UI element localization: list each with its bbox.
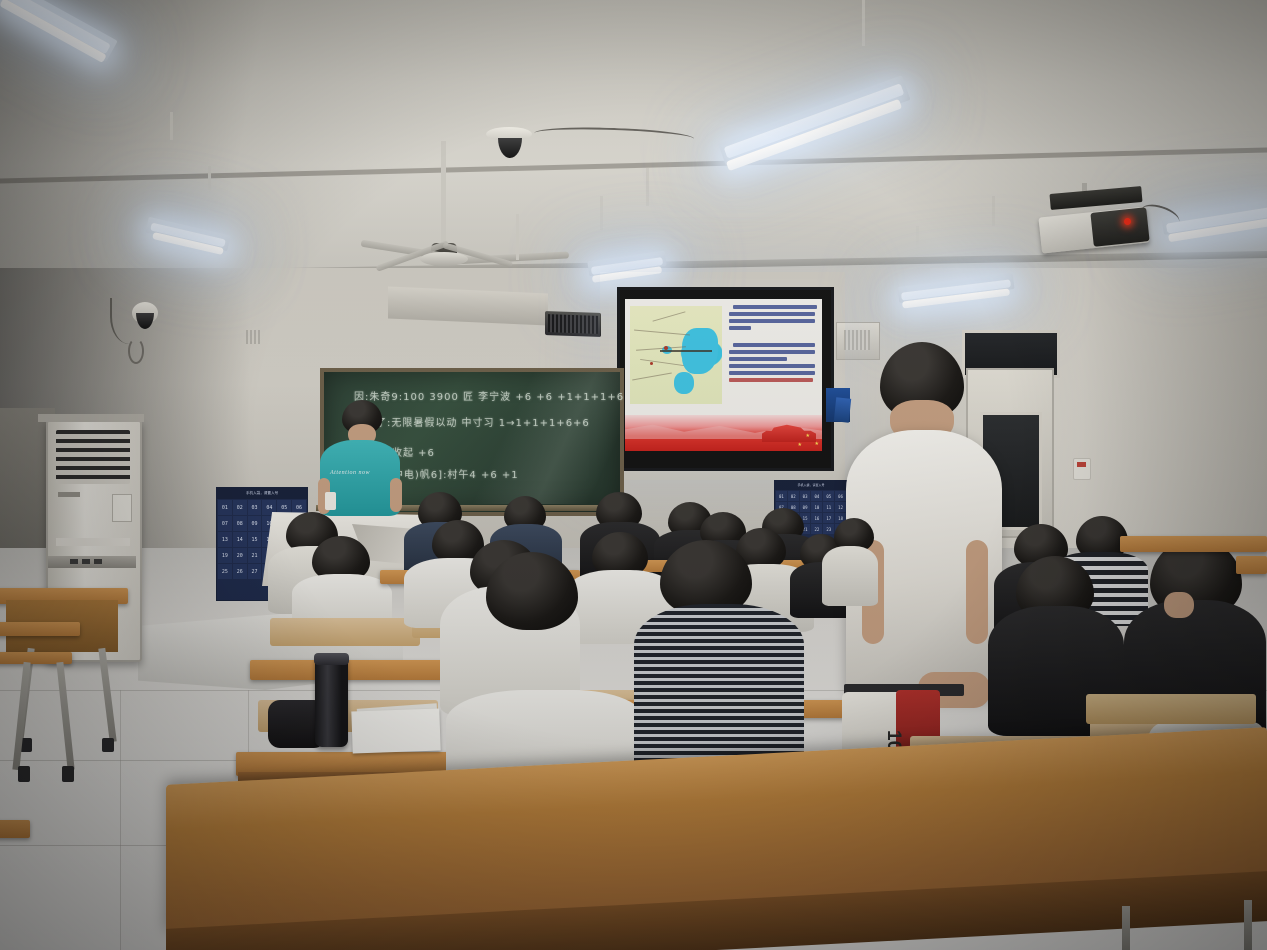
standing-student-arm bbox=[966, 540, 988, 644]
shorts-number: 101 bbox=[874, 730, 904, 748]
chair-foot bbox=[62, 766, 74, 782]
light-stem bbox=[862, 0, 865, 46]
chair-foot bbox=[18, 766, 30, 782]
pocket-cell[interactable]: 08 bbox=[233, 516, 247, 531]
ac-energy-label bbox=[112, 494, 132, 522]
pocket-cell[interactable]: 02 bbox=[788, 491, 799, 501]
water-bottle bbox=[315, 655, 348, 747]
slide-map-image bbox=[630, 306, 722, 404]
bench-back bbox=[270, 618, 420, 646]
ac-button[interactable] bbox=[70, 559, 78, 564]
desk-leg bbox=[1244, 900, 1252, 950]
pocket-cell[interactable]: 11 bbox=[823, 502, 834, 512]
chalkboard-line: (中电)帆6]:村午4 +6 +1 bbox=[388, 466, 519, 481]
ac-button[interactable] bbox=[82, 559, 90, 564]
student-hand bbox=[1164, 592, 1194, 618]
star-icon: ★ bbox=[815, 442, 819, 447]
pocket-cell[interactable]: 17 bbox=[823, 513, 834, 523]
speaker-grill bbox=[548, 314, 598, 334]
bottle-cap bbox=[314, 653, 349, 665]
desk-foot bbox=[102, 738, 114, 752]
pocket-cell[interactable]: 10 bbox=[811, 502, 822, 512]
light-stem bbox=[208, 166, 211, 190]
student-striped-shirt bbox=[634, 604, 804, 774]
pocket-cell[interactable]: 09 bbox=[248, 516, 262, 531]
pocket-cell[interactable]: 22 bbox=[811, 524, 822, 534]
power-led-icon bbox=[1124, 218, 1131, 225]
switch-indicator bbox=[1077, 462, 1086, 467]
student-torso bbox=[822, 546, 878, 606]
star-icon: ★ bbox=[798, 443, 802, 448]
pocket-cell[interactable]: 03 bbox=[248, 500, 262, 515]
pocket-cell[interactable]: 27 bbox=[248, 564, 262, 579]
light-stem bbox=[170, 112, 173, 140]
slide-text-line bbox=[733, 305, 817, 309]
wall-box-grill bbox=[844, 330, 870, 350]
pocket-board-header: 手机入袋，请置入号 bbox=[217, 488, 307, 499]
shirt-graphic-text: Attention now bbox=[328, 470, 372, 478]
ac-top-cap bbox=[38, 414, 144, 422]
fan-rod bbox=[441, 141, 446, 246]
pocket-cell[interactable]: 01 bbox=[776, 491, 787, 501]
map-city-dot bbox=[650, 362, 653, 365]
pocket-cell[interactable]: 25 bbox=[218, 564, 232, 579]
ac-brand-logo bbox=[58, 492, 80, 497]
chalkboard-line: 了:无限暑假以动 中寸习 1→1+1+1+6+6 bbox=[376, 414, 590, 429]
presenter-held-paper bbox=[325, 492, 336, 510]
pocket-cell[interactable]: 04 bbox=[811, 491, 822, 501]
map-road bbox=[634, 330, 690, 336]
notebook bbox=[351, 708, 440, 753]
slide-text-line bbox=[729, 326, 751, 330]
pocket-cell[interactable]: 02 bbox=[233, 500, 247, 515]
light-stem bbox=[600, 196, 603, 230]
slide-text-line bbox=[729, 319, 815, 323]
pocket-cell[interactable]: 19 bbox=[218, 548, 232, 563]
pocket-board-header: 手机入袋，请置入号 bbox=[775, 481, 847, 490]
pocket-cell[interactable]: 26 bbox=[233, 564, 247, 579]
pocket-cell[interactable]: 23 bbox=[823, 524, 834, 534]
map-road bbox=[632, 373, 672, 381]
ac-seam bbox=[56, 538, 130, 546]
loudspeaker bbox=[545, 311, 601, 337]
slide-text-block bbox=[729, 305, 817, 405]
pocket-cell[interactable]: 03 bbox=[800, 491, 811, 501]
desk bbox=[1120, 536, 1267, 552]
ac-vent-grill bbox=[56, 430, 130, 484]
map-road bbox=[640, 359, 684, 366]
map-road bbox=[653, 311, 686, 321]
bench-back bbox=[1086, 694, 1256, 724]
chair-seat bbox=[0, 622, 80, 636]
slide-text-line bbox=[729, 350, 815, 354]
desk bbox=[1236, 556, 1267, 574]
pocket-cell[interactable]: 01 bbox=[218, 500, 232, 515]
map-water bbox=[674, 372, 694, 394]
desk-leg bbox=[1122, 906, 1130, 950]
ceiling-shadow bbox=[0, 0, 330, 300]
pocket-cell[interactable]: 12 bbox=[835, 502, 846, 512]
projection-screen: ★ ★ ★ bbox=[617, 287, 834, 471]
chalkboard-line: 因:朱奇9:100 3900 匠 李宁波 +6 +6 +1+1+1+6 bbox=[354, 388, 624, 403]
slide-text-line bbox=[733, 343, 815, 347]
tiananmen-illustration bbox=[762, 422, 816, 442]
slide-banner: ★ ★ ★ bbox=[625, 415, 822, 451]
fan-hub bbox=[420, 252, 468, 266]
pocket-cell[interactable]: 14 bbox=[233, 532, 247, 547]
slide-text-line bbox=[729, 357, 787, 361]
pocket-cell[interactable]: 16 bbox=[811, 513, 822, 523]
light-stem bbox=[992, 196, 995, 226]
pocket-cell[interactable]: 21 bbox=[248, 548, 262, 563]
wall-vent bbox=[246, 330, 262, 344]
pocket-cell[interactable]: 05 bbox=[823, 491, 834, 501]
slide: ★ ★ ★ bbox=[625, 299, 822, 451]
chair-seat bbox=[0, 820, 30, 838]
ac-control-band bbox=[48, 556, 136, 568]
wall-poster bbox=[834, 397, 851, 422]
fan-hanger-rod bbox=[516, 214, 519, 260]
pocket-cell[interactable]: 09 bbox=[800, 502, 811, 512]
pocket-cell[interactable]: 07 bbox=[218, 516, 232, 531]
pocket-cell[interactable]: 15 bbox=[248, 532, 262, 547]
map-city-dot bbox=[664, 346, 668, 350]
floor-tile-line bbox=[120, 690, 121, 950]
cable-hook bbox=[128, 338, 144, 364]
classroom-photo: ★ ★ ★ 因:朱奇9:100 3900 匠 李宁波 +6 +6 +1+1+1+… bbox=[0, 0, 1267, 950]
slide-text-line-highlight bbox=[729, 378, 813, 382]
presenter-arm bbox=[390, 478, 402, 512]
slide-text-line bbox=[729, 312, 815, 316]
light-switch[interactable] bbox=[1073, 458, 1091, 480]
light-stem bbox=[646, 168, 649, 206]
pocket-cell[interactable]: 20 bbox=[233, 548, 247, 563]
slide-text-line bbox=[729, 371, 815, 375]
slide-text-line bbox=[729, 364, 815, 368]
star-icon: ★ bbox=[806, 434, 810, 439]
light-stem bbox=[916, 226, 919, 254]
pocket-cell[interactable]: 06 bbox=[835, 491, 846, 501]
map-railway bbox=[660, 350, 712, 352]
pocket-cell[interactable]: 13 bbox=[218, 532, 232, 547]
ac-display bbox=[94, 559, 102, 564]
